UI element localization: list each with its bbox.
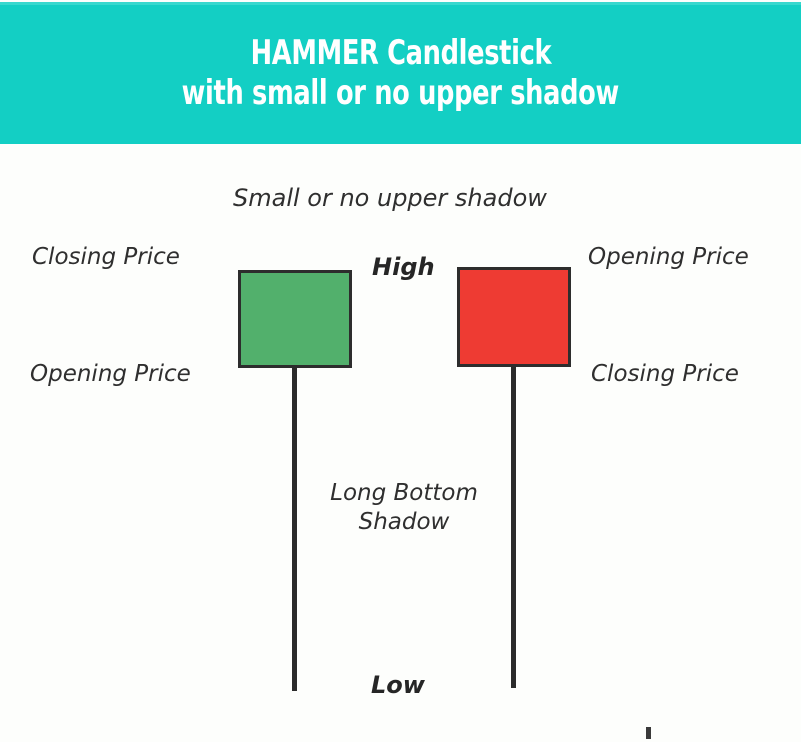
label-bearish-opening-price: Opening Price (588, 243, 749, 272)
header-banner: HAMMER Candlestick with small or no uppe… (0, 2, 801, 144)
banner-title-block: HAMMER Candlestick with small or no uppe… (0, 2, 801, 144)
hammer-candlestick-infographic: HAMMER Candlestick with small or no uppe… (0, 0, 801, 742)
label-bullish-closing-price: Closing Price (32, 243, 180, 272)
label-bearish-closing-price: Closing Price (591, 360, 739, 389)
label-low: Low (371, 670, 425, 701)
label-long-bottom-shadow: Long Bottom Shadow (316, 479, 492, 538)
label-high: High (372, 252, 435, 283)
label-upper-shadow: Small or no upper shadow (233, 183, 547, 214)
bullish-candle-body (238, 270, 352, 368)
banner-title-line-1: HAMMER Candlestick (250, 36, 551, 71)
label-bullish-opening-price: Opening Price (30, 360, 191, 389)
bearish-candle-body (457, 267, 571, 367)
banner-title-line-2: with small or no upper shadow (182, 76, 619, 111)
image-artifact-speck (646, 727, 651, 739)
